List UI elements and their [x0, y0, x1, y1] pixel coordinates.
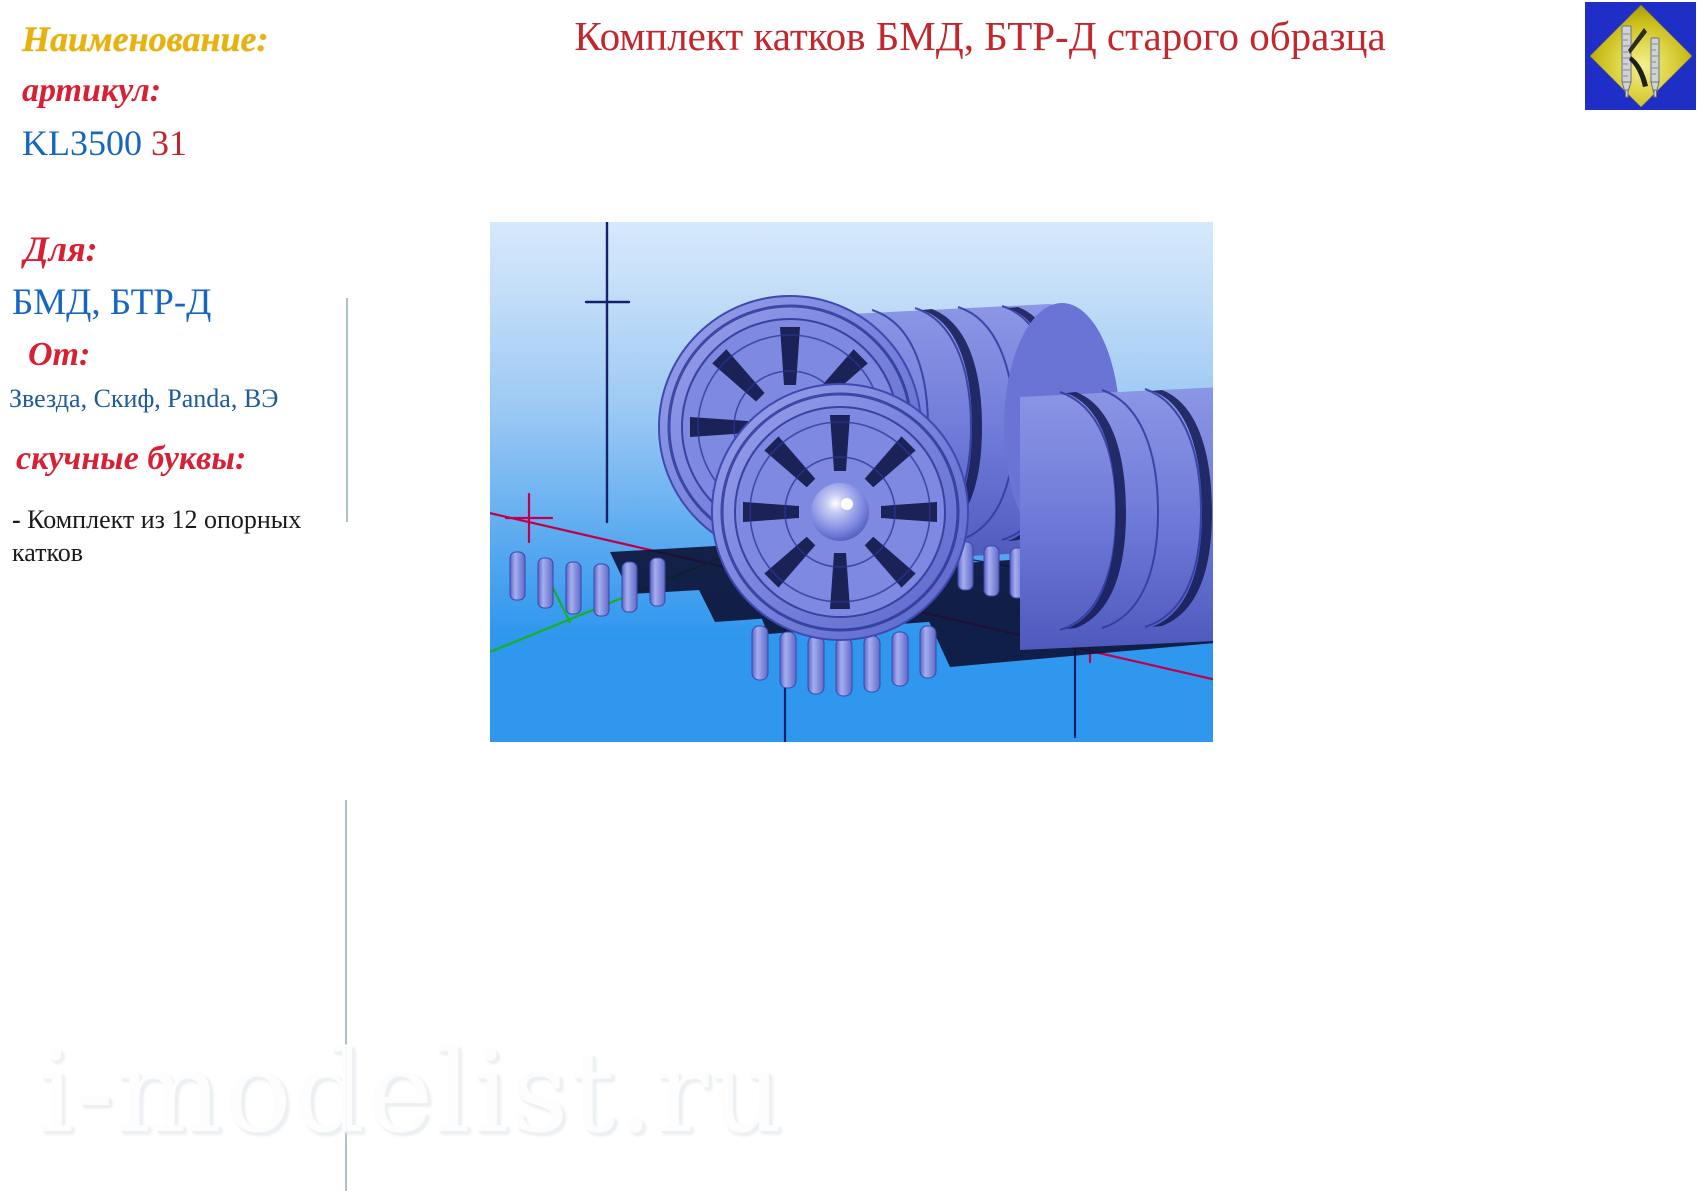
logo-kl-monogram-icon — [1585, 2, 1696, 110]
value-from: Звезда, Скиф, Panda, ВЭ — [9, 384, 278, 414]
product-render-image — [490, 222, 1213, 742]
label-article: артикул: — [22, 72, 161, 110]
label-from: От: — [28, 336, 90, 374]
value-for: БМД, БТР-Д — [12, 281, 211, 324]
article-code: KL3500 — [22, 123, 142, 163]
label-boring-letters: скучные буквы: — [16, 440, 246, 478]
page-title: Комплект катков БМД, БТР-Д старого образ… — [430, 12, 1530, 60]
label-for: Для: — [24, 228, 98, 270]
wheel-face-front — [712, 384, 968, 640]
divider-line-upper — [346, 298, 348, 522]
description-text: Комплект из 12 опорных катков — [12, 505, 301, 567]
brand-logo — [1585, 2, 1696, 110]
description-bullet: - — [12, 505, 21, 534]
description-block: - Комплект из 12 опорных катков — [12, 503, 342, 569]
wheel-stack-front — [1020, 384, 1213, 650]
render-scene — [490, 222, 1213, 742]
site-watermark: i-modelist.ru — [38, 1028, 785, 1158]
value-article: KL3500 31 — [22, 122, 187, 164]
label-name: Наименование: — [22, 18, 268, 60]
article-suffix: 31 — [151, 123, 187, 163]
